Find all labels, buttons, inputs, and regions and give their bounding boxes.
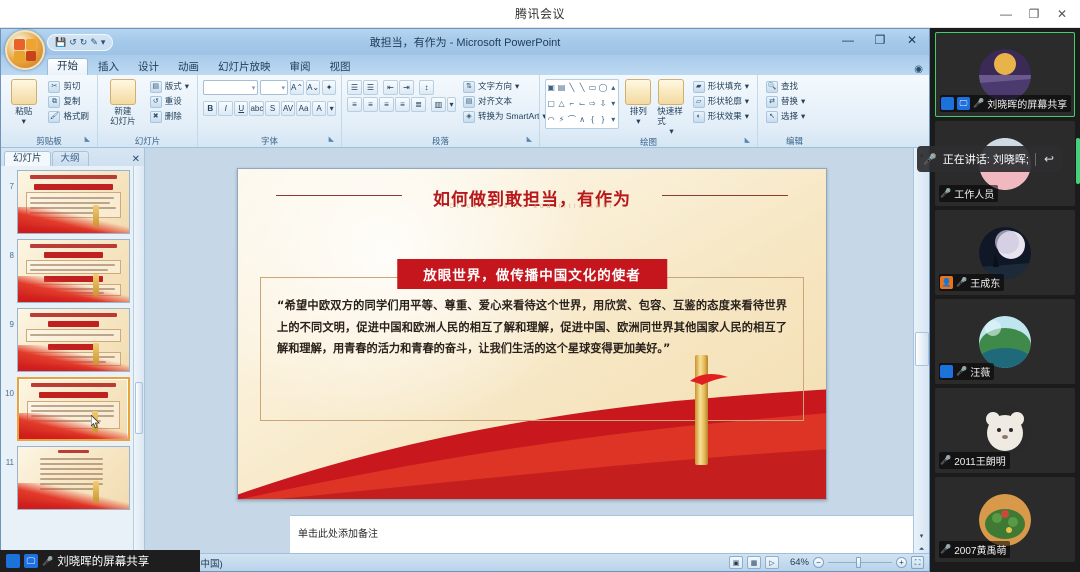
underline-icon[interactable]: U: [234, 101, 248, 116]
thumb-figure-decoration: [93, 205, 99, 227]
smartart-icon: ◈: [463, 111, 475, 123]
ribbon-group-slides: 新建 幻灯片 ▤ 版式 ▾ ↺ 重设: [97, 75, 197, 147]
slides-group-title: 幻灯片: [135, 136, 161, 146]
shape-icon-13[interactable]: ◠: [548, 116, 555, 124]
normal-view-icon[interactable]: ▣: [729, 556, 743, 569]
slide-ribbon-decoration: [690, 371, 734, 387]
paragraph-buttons: ☰ ☰ ⇤ ⇥ ↕ ≡ ≡ ≡ ≡ ≣: [347, 77, 456, 112]
slide-canvas[interactable]: 如何做到敢担当，有作为 Click here to add title text…: [237, 168, 827, 500]
person-icon: 👤: [6, 554, 20, 568]
arrange-button[interactable]: 排列 ▾: [623, 77, 653, 127]
shape-icon-5[interactable]: ▭: [589, 84, 597, 92]
mic-muted-icon: 🎤: [940, 544, 951, 555]
zoom-slider-handle[interactable]: [856, 557, 861, 568]
slide-sorter-icon[interactable]: ▦: [747, 556, 761, 569]
numbering-icon[interactable]: ☰: [363, 80, 378, 95]
font-color-icon[interactable]: A: [312, 101, 326, 116]
arrange-icon: [625, 79, 651, 105]
layout-button[interactable]: ▤ 版式 ▾: [147, 80, 192, 94]
find-icon: 🔍: [766, 81, 778, 93]
zoom-slider[interactable]: [828, 562, 892, 563]
screen-icon: 🖵: [24, 554, 38, 568]
shape-effects-icon: ◐: [693, 111, 705, 123]
participant-name: 王成东: [970, 275, 1000, 290]
speaking-toast-text: 正在讲话: 刘晓晖;: [943, 151, 1029, 167]
close-icon[interactable]: ✕: [132, 154, 140, 165]
shrink-font-icon[interactable]: A⌄: [306, 80, 320, 95]
align-right-icon[interactable]: ≡: [379, 97, 394, 112]
thumb-red-banner: [44, 252, 103, 258]
align-text-label: 对齐文本: [478, 97, 512, 106]
columns-icon[interactable]: ▥: [431, 97, 446, 112]
powerpoint-window: 💾 ↺ ↻ ✎ ▾ 敢担当，有作为 - Microsoft PowerPoint…: [0, 28, 930, 572]
mic-muted-icon: 🎤: [956, 277, 967, 288]
convert-smartart-label: 转换为 SmartArt: [478, 112, 539, 121]
paragraph-group-label: 段落 ◣: [347, 135, 534, 147]
editing-group-label: 编辑: [763, 135, 826, 147]
tab-home[interactable]: 开始: [47, 58, 88, 76]
replace-button[interactable]: ⇄ 替换 ▾: [763, 95, 808, 109]
drawing-dialog-launcher-icon[interactable]: ◣: [745, 135, 750, 147]
columns-dropdown-icon[interactable]: ▾: [447, 97, 456, 112]
select-label: 选择: [781, 112, 798, 121]
reset-label: 重设: [165, 97, 182, 106]
thumbnail-item-selected[interactable]: 10: [3, 377, 142, 441]
font-controls-row-2: B I U abc S AV Aa A ▾: [203, 99, 336, 116]
thumb-red-banner: [34, 184, 113, 190]
thumb-text-box: [26, 329, 121, 342]
shape-icon-3[interactable]: ╲: [569, 84, 574, 92]
quick-styles-label: 快速样式: [657, 107, 685, 127]
font-group-title: 字体: [261, 136, 278, 146]
tab-view[interactable]: 视图: [321, 60, 360, 76]
powerpoint-minimize-button[interactable]: —: [833, 30, 863, 50]
thumb-title-bar: [58, 450, 89, 453]
office-orb-glyph: [14, 39, 36, 61]
shapes-scroll-down-icon[interactable]: ▾: [611, 100, 615, 108]
scissors-icon: ✂: [48, 81, 60, 93]
text-direction-label: 文字方向: [478, 82, 512, 91]
distribute-icon[interactable]: ≣: [411, 97, 426, 112]
thumbnail-preview[interactable]: [17, 239, 130, 303]
avatar: [979, 405, 1031, 457]
thumb-figure-decoration: [93, 481, 99, 503]
powerpoint-document-title: 敢担当，有作为 - Microsoft PowerPoint: [1, 34, 929, 50]
zoom-out-button[interactable]: −: [813, 557, 824, 568]
office-orb-icon[interactable]: [5, 30, 45, 70]
shape-icon-7[interactable]: ▢: [547, 100, 555, 108]
screen-icon: 🖵: [957, 97, 970, 110]
font-group-label: 字体 ◣: [203, 135, 336, 147]
toast-divider: [1035, 153, 1036, 166]
convert-smartart-button[interactable]: ◈ 转换为 SmartArt ▾: [460, 110, 550, 124]
strikethrough-icon[interactable]: abc: [249, 101, 264, 116]
participant-card[interactable]: 🎤 2011王朗明: [935, 388, 1075, 473]
justify-icon[interactable]: ≡: [395, 97, 410, 112]
shapes-scroll-up-icon[interactable]: ▴: [611, 84, 615, 92]
reset-icon: ↺: [150, 96, 162, 108]
delete-icon: ✖: [150, 111, 162, 123]
avatar: [979, 494, 1031, 546]
delete-label: 删除: [165, 112, 182, 121]
layout-dropdown-icon[interactable]: ▾: [185, 82, 189, 91]
powerpoint-window-controls: — ❐ ✕: [833, 30, 927, 50]
cut-button[interactable]: ✂ 剪切: [45, 80, 92, 94]
participant-name-row: 👤 🖵 🎤 刘晓晖的屏幕共享: [940, 95, 1071, 112]
shape-icon-17[interactable]: {: [591, 116, 594, 124]
shape-icon-2[interactable]: ▤: [558, 84, 566, 92]
shadow-icon[interactable]: S: [265, 101, 279, 116]
change-case-icon[interactable]: Aa: [296, 101, 310, 116]
shape-fill-button[interactable]: ▰ 形状填充 ▾: [690, 80, 752, 94]
tab-slideshow[interactable]: 幻灯片放映: [209, 60, 280, 76]
share-status-label: 刘晓晖的屏幕共享: [57, 553, 149, 569]
paragraph-group-title: 段落: [432, 136, 449, 146]
avatar: [979, 316, 1031, 368]
shape-icon-11[interactable]: ⇨: [589, 100, 596, 108]
paste-dropdown-icon[interactable]: ▾: [22, 117, 26, 127]
mouse-cursor-icon: [91, 415, 101, 430]
new-slide-label: 新建 幻灯片: [110, 107, 136, 127]
slide-body-text: “希望中欧双方的同学们用平等、尊重、爱心来看待这个世界，用欣赏、包容、互鉴的态度…: [277, 295, 787, 360]
editing-group-title: 编辑: [786, 136, 803, 146]
thumb-red-banner: [48, 321, 99, 327]
slide-scrollbar-track[interactable]: [915, 162, 929, 529]
meeting-window-controls: — ❐ ✕: [992, 0, 1076, 28]
find-label: 查找: [781, 82, 798, 91]
italic-icon[interactable]: I: [218, 101, 232, 116]
participant-card[interactable]: 🎤 2007黄禹萌: [935, 477, 1075, 562]
participants-scrollbar[interactable]: [1076, 138, 1080, 184]
align-left-icon[interactable]: ≡: [347, 97, 362, 112]
format-painter-icon: 🖌: [48, 111, 60, 123]
replace-label: 替换: [781, 97, 798, 106]
text-direction-icon: ⇅: [463, 81, 475, 93]
thumbnail-number: 11: [3, 446, 14, 467]
drawing-group-label: 绘图 ◣: [545, 136, 752, 148]
avatar: [979, 49, 1031, 101]
speaking-toast: 🎤 正在讲话: 刘晓晖; ↩: [917, 146, 1062, 172]
select-dropdown-icon[interactable]: ▾: [801, 112, 805, 121]
thumb-figure-decoration: [93, 343, 99, 365]
paste-button[interactable]: 粘贴 ▾: [6, 77, 41, 127]
slide-body-textbox[interactable]: “希望中欧双方的同学们用平等、尊重、爱心来看待这个世界，用欣赏、包容、互鉴的态度…: [260, 277, 804, 421]
new-slide-button[interactable]: 新建 幻灯片: [103, 77, 143, 127]
copy-label: 复制: [63, 97, 80, 106]
slide-scrollbar-thumb[interactable]: [915, 332, 929, 366]
new-slide-icon: [110, 79, 136, 105]
slide-thumbnail-list[interactable]: 7: [1, 166, 144, 571]
share-status-badge: 👤 🖵 🎤 刘晓晖的屏幕共享: [0, 550, 200, 572]
reset-button[interactable]: ↺ 重设: [147, 95, 192, 109]
zoom-in-button[interactable]: +: [896, 557, 907, 568]
person-icon: 👤: [940, 276, 953, 289]
text-direction-dropdown-icon[interactable]: ▾: [515, 82, 519, 91]
ribbon-group-drawing: ▣ ▤ ╲ ╲ ▭ ◯ ▴ ▢ △ ⌐ ⌙ ⇨ ⇩: [539, 75, 757, 147]
thumb-wave-decoration: [18, 345, 129, 371]
thumbnail-item[interactable]: 7: [3, 170, 142, 234]
thumb-title-bar: [30, 175, 117, 179]
font-size-input[interactable]: ▾: [260, 80, 288, 95]
ribbon-group-paragraph: ☰ ☰ ⇤ ⇥ ↕ ≡ ≡ ≡ ≡ ≣: [341, 75, 539, 147]
ribbon: 粘贴 ▾ ✂ 剪切 ⧉ 复制: [1, 75, 929, 148]
mic-on-icon: 🎤: [973, 98, 984, 109]
thumbnail-item[interactable]: 9: [3, 308, 142, 372]
shape-icon-14[interactable]: ⚡: [559, 116, 565, 124]
participant-name: 2011王朗明: [954, 453, 1006, 468]
meeting-minimize-button[interactable]: —: [992, 2, 1020, 26]
mic-muted-icon: 🎤: [956, 366, 967, 377]
shape-effects-button[interactable]: ◐ 形状效果 ▾: [690, 110, 752, 124]
participant-card[interactable]: 👤 🎤 王成东: [935, 210, 1075, 295]
powerpoint-restore-button[interactable]: ❐: [865, 30, 895, 50]
thumbnail-preview[interactable]: [17, 170, 130, 234]
slide-banner[interactable]: 放眼世界，做传播中国文化的使者: [397, 259, 667, 289]
meeting-title: 腾讯会议: [515, 5, 565, 22]
layout-icon: ▤: [150, 81, 162, 93]
mic-muted-icon: 🎤: [940, 188, 951, 199]
clipboard-group-label: 剪贴板 ◣: [6, 135, 92, 147]
paragraph-row-1: ☰ ☰ ⇤ ⇥ ↕: [347, 80, 456, 95]
replace-dropdown-icon[interactable]: ▾: [801, 97, 805, 106]
thumbnail-number: 10: [3, 377, 14, 398]
scroll-down-icon[interactable]: ▾: [915, 529, 929, 543]
thumb-wave-decoration: [19, 413, 128, 439]
avatar: [979, 227, 1031, 279]
paste-icon: [11, 79, 37, 105]
slide-scrollbar[interactable]: ▴ ▾ ⏶ ⏷: [913, 148, 929, 571]
text-direction-button[interactable]: ⇅ 文字方向 ▾: [460, 80, 550, 94]
shapes-more-icon[interactable]: ▾: [611, 116, 615, 124]
participant-name-row: 👤 🎤 汪薇: [939, 363, 994, 380]
shape-effects-label: 形状效果: [708, 112, 742, 121]
slideshow-icon[interactable]: ▷: [765, 556, 779, 569]
format-painter-label: 格式刷: [63, 112, 89, 121]
participant-card[interactable]: 👤 🖵 🎤 刘晓晖的屏幕共享: [935, 32, 1075, 117]
meeting-maximize-button[interactable]: ❐: [1020, 2, 1048, 26]
editing-commands: 🔍 查找 ⇄ 替换 ▾ ↖ 选择 ▾: [763, 77, 808, 124]
tab-insert[interactable]: 插入: [89, 60, 128, 76]
shape-outline-icon: ▱: [693, 96, 705, 108]
mic-icon: 🎤: [42, 556, 53, 567]
paragraph-commands: ⇅ 文字方向 ▾ ▤ 对齐文本 ◈ 转换为 SmartArt: [460, 77, 550, 124]
shape-icon-4[interactable]: ╲: [580, 84, 585, 92]
thumbnail-number: 7: [3, 170, 14, 191]
mic-muted-icon: 🎤: [923, 153, 937, 166]
clipboard-dialog-launcher-icon[interactable]: ◣: [85, 134, 90, 146]
pane-tab-slides[interactable]: 幻灯片: [4, 151, 51, 166]
delete-slide-button[interactable]: ✖ 删除: [147, 110, 192, 124]
thumbnail-item[interactable]: 11: [3, 446, 142, 510]
clipboard-commands: ✂ 剪切 ⧉ 复制 🖌 格式刷: [45, 77, 92, 124]
select-button[interactable]: ↖ 选择 ▾: [763, 110, 808, 124]
shape-icon-16[interactable]: ∧: [579, 116, 585, 124]
participant-name: 2007黄禹萌: [954, 542, 1006, 557]
person-icon: 👤: [940, 365, 953, 378]
thumb-title-bar: [30, 244, 117, 248]
shape-icon-6[interactable]: ◯: [598, 84, 607, 92]
mic-muted-icon: 🎤: [940, 455, 951, 466]
shape-outline-dropdown-icon[interactable]: ▾: [745, 97, 749, 106]
slide-edit-area: 如何做到敢担当，有作为 Click here to add title text…: [145, 148, 929, 571]
quick-styles-button[interactable]: 快速样式 ▾: [657, 77, 685, 136]
slides-pane-tabs: 幻灯片 大纲 ✕: [1, 148, 144, 166]
arrange-dropdown-icon[interactable]: ▾: [636, 117, 640, 127]
align-text-button[interactable]: ▤ 对齐文本: [460, 95, 550, 109]
font-color-dropdown-icon[interactable]: ▾: [327, 101, 336, 116]
shape-outline-label: 形状轮廓: [708, 97, 742, 106]
thumbnail-scrollbar[interactable]: [133, 166, 144, 571]
powerpoint-workspace: 幻灯片 大纲 ✕ 7: [1, 148, 929, 571]
slide-subtitle[interactable]: Click here to add title text: [238, 204, 826, 210]
find-button[interactable]: 🔍 查找: [763, 80, 808, 94]
shape-icon-10[interactable]: ⌙: [579, 100, 586, 108]
font-controls-row-1: ▾ ▾ A⌃ A⌄ ✦: [203, 77, 336, 95]
tab-design[interactable]: 设计: [129, 60, 168, 76]
drawing-commands: ▰ 形状填充 ▾ ▱ 形状轮廓 ▾ ◐ 形状效果: [690, 77, 752, 124]
thumb-wave-decoration: [18, 483, 129, 509]
character-spacing-icon[interactable]: AV: [281, 101, 295, 116]
participant-name-row: 🎤 2007黄禹萌: [939, 541, 1010, 558]
shape-icon-15[interactable]: ⌒: [568, 116, 576, 124]
participant-name: 汪薇: [970, 364, 990, 379]
font-name-input[interactable]: ▾: [203, 80, 258, 95]
cut-label: 剪切: [63, 82, 80, 91]
clear-formatting-icon[interactable]: ✦: [322, 80, 336, 95]
status-bar-right: ▣ ▦ ▷ 64% − + ⛶: [729, 556, 929, 569]
thumb-title-bar: [31, 383, 116, 387]
shapes-gallery[interactable]: ▣ ▤ ╲ ╲ ▭ ◯ ▴ ▢ △ ⌐ ⌙ ⇨ ⇩: [545, 79, 619, 129]
bullets-icon[interactable]: ☰: [347, 80, 362, 95]
thumb-red-banner: [39, 392, 108, 398]
thumb-figure-decoration: [93, 274, 99, 296]
thumbnail-number: 9: [3, 308, 14, 329]
line-spacing-icon[interactable]: ↕: [419, 80, 434, 95]
participant-name-row: 🎤 工作人员: [939, 185, 998, 202]
shape-icon-12[interactable]: ⇩: [600, 100, 607, 108]
slides-group-label: 幻灯片: [103, 135, 192, 147]
participants-panel[interactable]: 👤 🖵 🎤 刘晓晖的屏幕共享 🎤 工作人员: [930, 28, 1080, 572]
font-dialog-launcher-icon[interactable]: ◣: [329, 134, 334, 146]
powerpoint-titlebar: 💾 ↺ ↻ ✎ ▾ 敢担当，有作为 - Microsoft PowerPoint…: [1, 29, 929, 55]
app-root: 腾讯会议 — ❐ ✕ 💾 ↺ ↻ ✎ ▾: [0, 0, 1080, 572]
thumb-wave-decoration: [18, 276, 129, 302]
thumbnail-preview[interactable]: [17, 377, 130, 441]
pane-tab-outline[interactable]: 大纲: [52, 151, 89, 166]
meeting-titlebar: 腾讯会议 — ❐ ✕: [0, 0, 1080, 28]
participant-name-row: 🎤 2011王朗明: [939, 452, 1010, 469]
replace-icon: ⇄: [766, 96, 778, 108]
shape-effects-dropdown-icon[interactable]: ▾: [745, 112, 749, 121]
thumb-title-bar: [30, 313, 117, 317]
powerpoint-close-button[interactable]: ✕: [897, 30, 927, 50]
increase-indent-icon[interactable]: ⇥: [399, 80, 414, 95]
thumbnail-scrollbar-thumb[interactable]: [135, 382, 143, 434]
tab-review[interactable]: 审阅: [281, 60, 320, 76]
participant-name: 刘晓晖的屏幕共享: [987, 96, 1067, 111]
drawing-group-title: 绘图: [640, 137, 657, 147]
thumbnail-item[interactable]: 8: [3, 239, 142, 303]
participant-name: 工作人员: [954, 186, 994, 201]
shape-icon-18[interactable]: }: [602, 116, 605, 124]
help-icon[interactable]: ◉: [914, 64, 923, 75]
person-icon: 👤: [941, 97, 954, 110]
shape-fill-label: 形状填充: [708, 82, 742, 91]
thumbnail-preview[interactable]: [17, 308, 130, 372]
thumb-wave-decoration: [18, 207, 129, 233]
copy-button[interactable]: ⧉ 复制: [45, 95, 92, 109]
quick-styles-dropdown-icon[interactable]: ▾: [669, 127, 673, 137]
thumbnail-preview[interactable]: [17, 446, 130, 510]
format-painter-button[interactable]: 🖌 格式刷: [45, 110, 92, 124]
paragraph-row-2: ≡ ≡ ≡ ≡ ≣ ▥ ▾: [347, 97, 456, 112]
participant-card[interactable]: 👤 🎤 汪薇: [935, 299, 1075, 384]
ribbon-group-clipboard: 粘贴 ▾ ✂ 剪切 ⧉ 复制: [1, 75, 97, 147]
ribbon-group-editing: 🔍 查找 ⇄ 替换 ▾ ↖ 选择 ▾: [757, 75, 831, 147]
shape-fill-dropdown-icon[interactable]: ▾: [745, 82, 749, 91]
slides-commands: ▤ 版式 ▾ ↺ 重设 ✖ 删除: [147, 77, 192, 124]
zoom-level: 64%: [783, 557, 809, 568]
align-text-icon: ▤: [463, 96, 475, 108]
shared-screen-area: 💾 ↺ ↻ ✎ ▾ 敢担当，有作为 - Microsoft PowerPoint…: [0, 28, 930, 572]
shape-icon-9[interactable]: ⌐: [570, 100, 575, 108]
clipboard-group-title: 剪贴板: [36, 136, 62, 146]
copy-icon: ⧉: [48, 96, 60, 108]
ribbon-group-font: ▾ ▾ A⌃ A⌄ ✦ B I U abc S AV: [197, 75, 341, 147]
fit-to-window-icon[interactable]: ⛶: [911, 556, 924, 569]
grow-font-icon[interactable]: A⌃: [290, 80, 304, 95]
meeting-close-button[interactable]: ✕: [1048, 2, 1076, 26]
ribbon-tab-strip: 开始 插入 设计 动画 幻灯片放映 审阅 视图 ◉: [1, 55, 929, 75]
participant-name-row: 👤 🎤 王成东: [939, 274, 1004, 291]
shape-icon-1[interactable]: ▣: [547, 84, 555, 92]
paragraph-dialog-launcher-icon[interactable]: ◣: [527, 134, 532, 146]
notes-pane[interactable]: 单击此处添加备注: [290, 515, 913, 553]
select-icon: ↖: [766, 111, 778, 123]
quick-styles-icon: [658, 79, 684, 105]
tab-animations[interactable]: 动画: [169, 60, 208, 76]
align-center-icon[interactable]: ≡: [363, 97, 378, 112]
shape-outline-button[interactable]: ▱ 形状轮廓 ▾: [690, 95, 752, 109]
bold-icon[interactable]: B: [203, 101, 217, 116]
slides-pane: 幻灯片 大纲 ✕ 7: [1, 148, 145, 571]
thumbnail-number: 8: [3, 239, 14, 260]
thumb-text-box: [26, 260, 121, 274]
shape-fill-icon: ▰: [693, 81, 705, 93]
reply-arrow-icon[interactable]: ↩: [1042, 152, 1056, 166]
layout-label: 版式: [165, 82, 182, 91]
shape-icon-8[interactable]: △: [558, 100, 564, 108]
decrease-indent-icon[interactable]: ⇤: [383, 80, 398, 95]
